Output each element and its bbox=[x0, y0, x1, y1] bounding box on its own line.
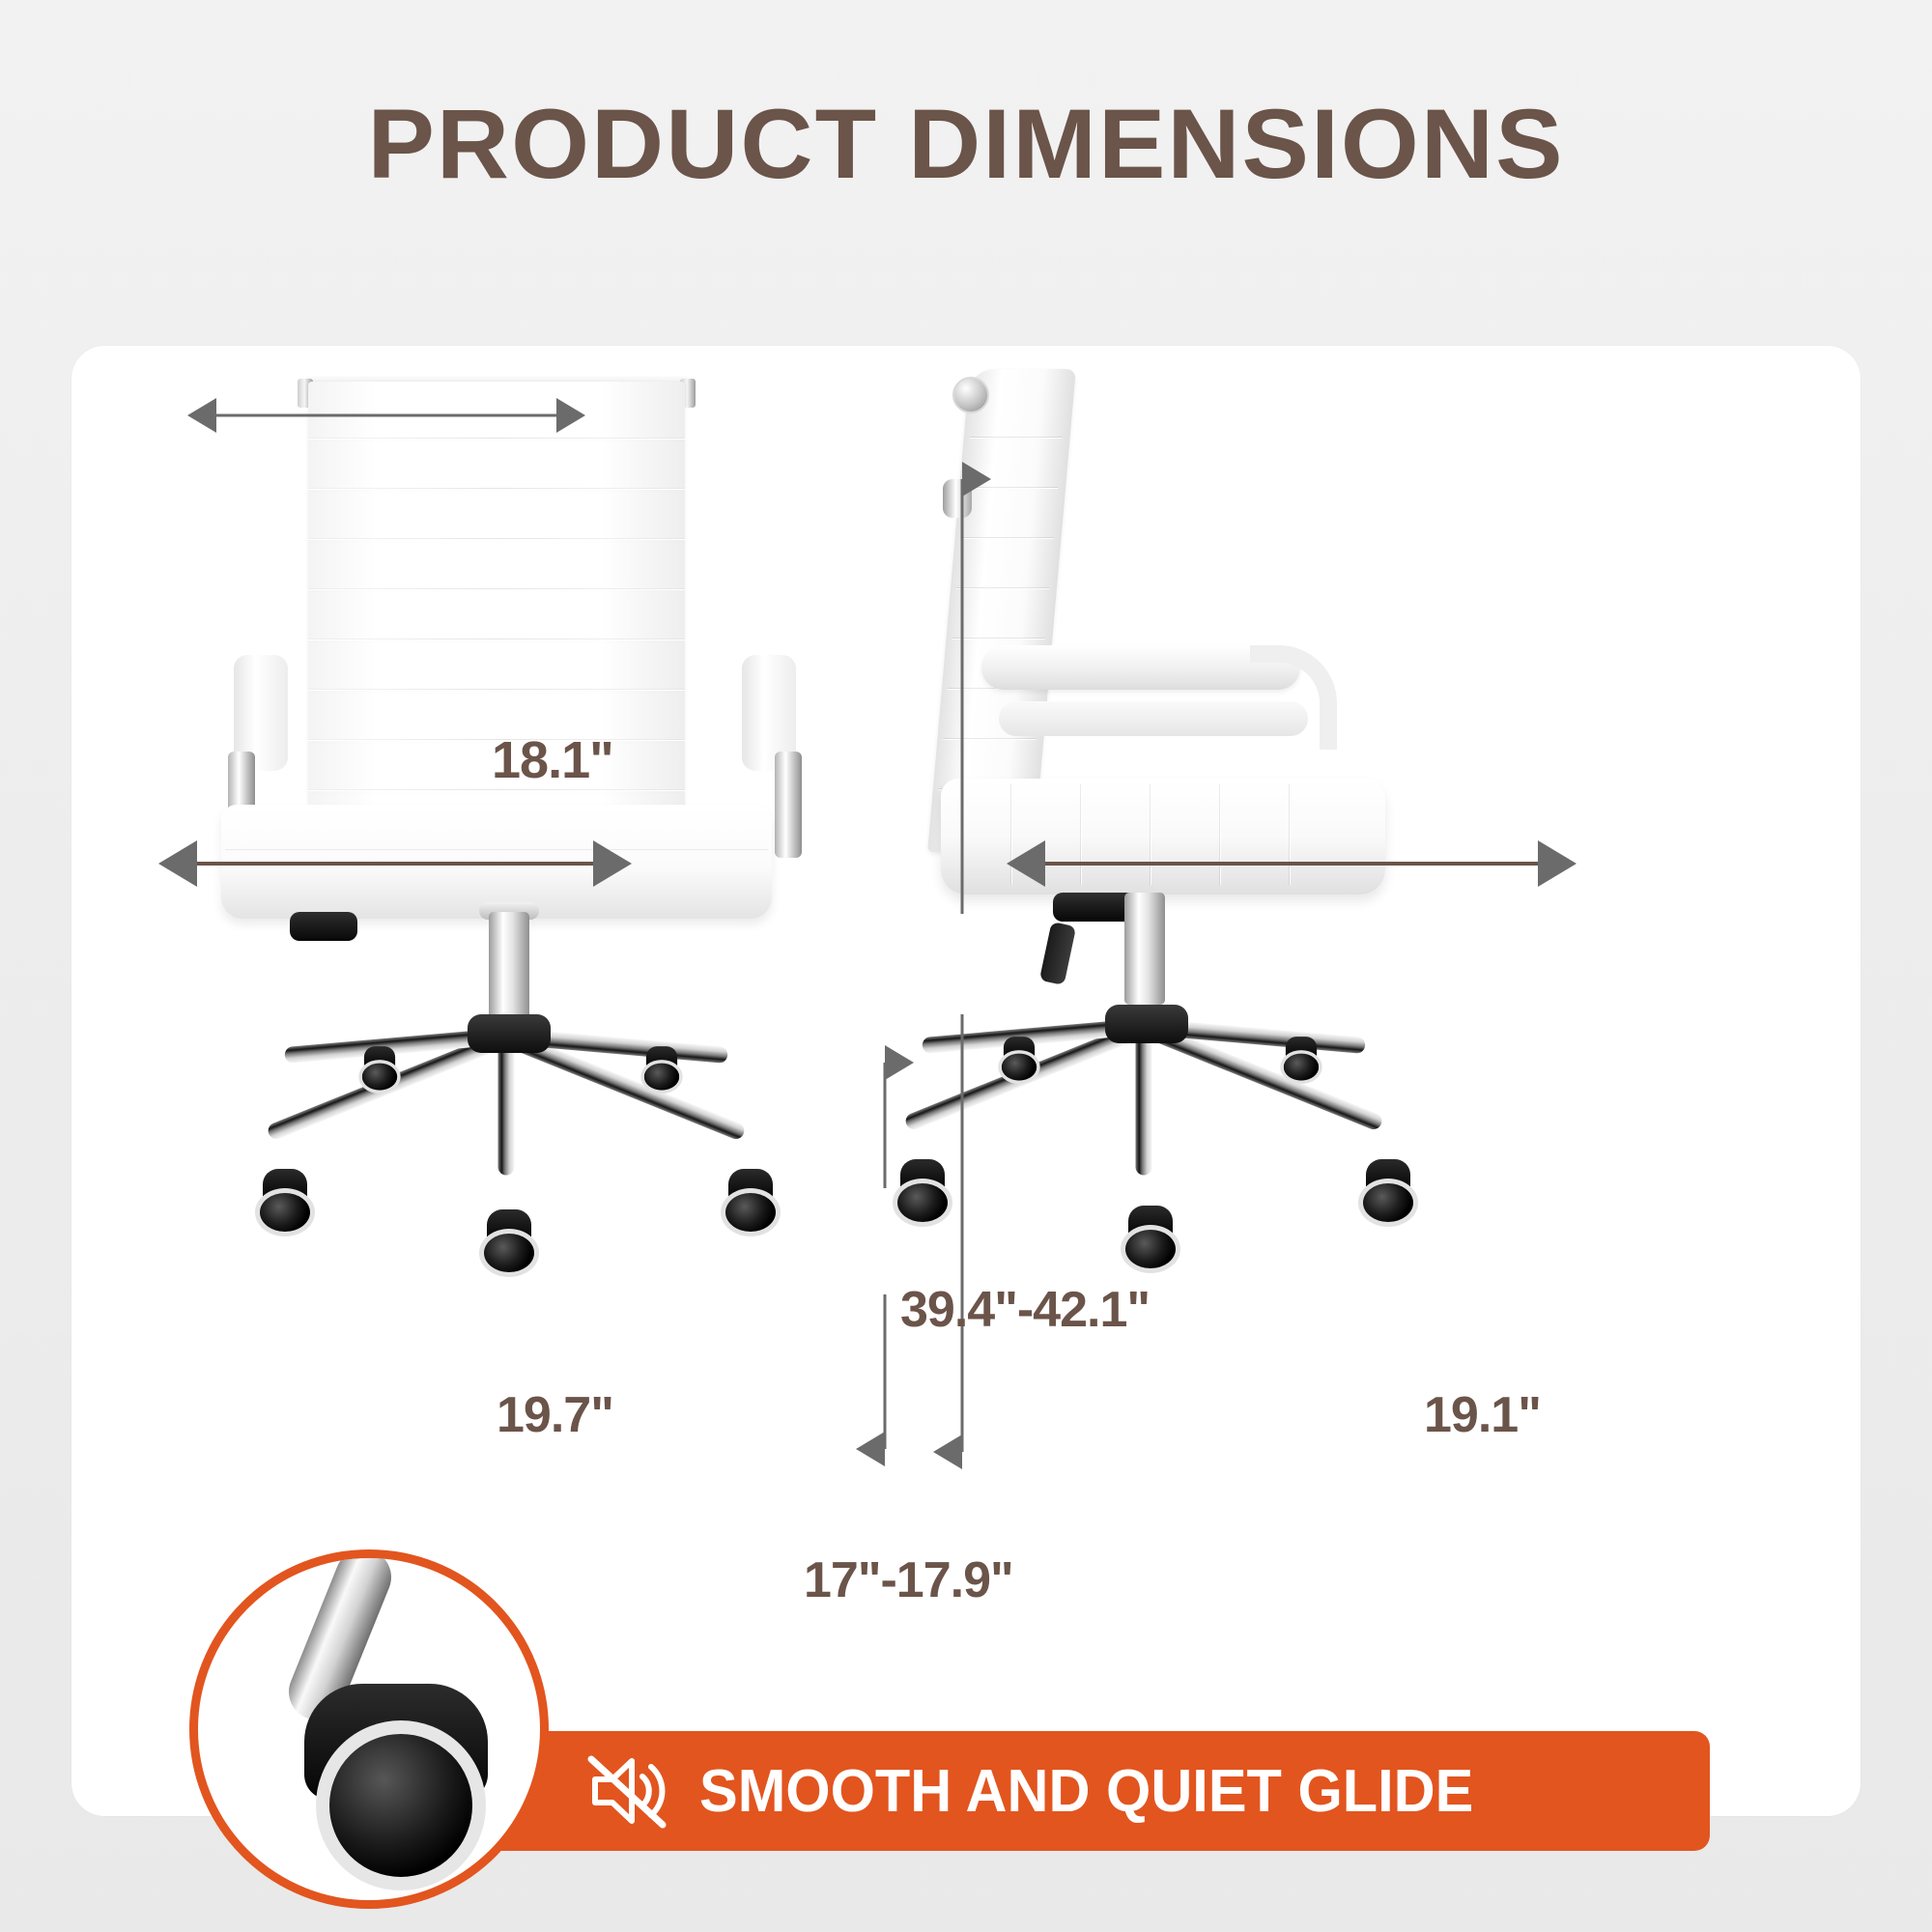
base-spoke bbox=[498, 1040, 515, 1176]
caster-wheel bbox=[893, 1165, 952, 1225]
dimension-label-seat-width: 19.1" bbox=[1424, 1386, 1541, 1444]
page-header: PRODUCT DIMENSIONS bbox=[0, 93, 1932, 196]
dimension-label-back-width: 18.1" bbox=[492, 730, 613, 790]
base-hub bbox=[1105, 1005, 1188, 1043]
base-spoke bbox=[1136, 1031, 1152, 1176]
dimension-label-seat-depth: 19.7" bbox=[497, 1386, 613, 1444]
caster-wheel bbox=[255, 1175, 315, 1235]
feature-banner-text: SMOOTH AND QUIET GLIDE bbox=[699, 1757, 1473, 1826]
tilt-lever-front bbox=[290, 912, 357, 941]
backrest-pivot-bolt bbox=[952, 377, 989, 413]
page-title: PRODUCT DIMENSIONS bbox=[0, 93, 1932, 196]
caster-wheel-closeup bbox=[316, 1720, 486, 1890]
gas-cylinder-front bbox=[489, 912, 529, 1026]
mute-speaker-icon bbox=[587, 1753, 670, 1829]
chair-side-view bbox=[835, 355, 1530, 1515]
dimension-label-overall-height: 39.4"-42.1" bbox=[900, 1281, 1150, 1339]
seat-side bbox=[941, 779, 1385, 895]
caster-wheel bbox=[1358, 1165, 1418, 1225]
backrest-bracket bbox=[943, 479, 972, 518]
caster-wheel bbox=[721, 1175, 781, 1235]
caster-wheel bbox=[1280, 1040, 1321, 1082]
caster-wheel bbox=[998, 1040, 1039, 1082]
base-hub bbox=[468, 1014, 551, 1053]
dimension-label-seat-height: 17"-17.9" bbox=[804, 1551, 1013, 1609]
chair-front-view bbox=[178, 365, 854, 1505]
caster-closeup-inset bbox=[189, 1549, 549, 1909]
caster-wheel bbox=[479, 1215, 539, 1275]
caster-wheel bbox=[1121, 1211, 1180, 1271]
backrest bbox=[308, 382, 685, 865]
caster-wheel bbox=[358, 1050, 400, 1092]
armrest-side-curve bbox=[1250, 645, 1337, 750]
caster-wheel bbox=[640, 1050, 682, 1092]
feature-banner: SMOOTH AND QUIET GLIDE bbox=[435, 1731, 1710, 1851]
gas-cylinder-side bbox=[1124, 893, 1165, 1005]
height-lever-side bbox=[1039, 922, 1076, 985]
